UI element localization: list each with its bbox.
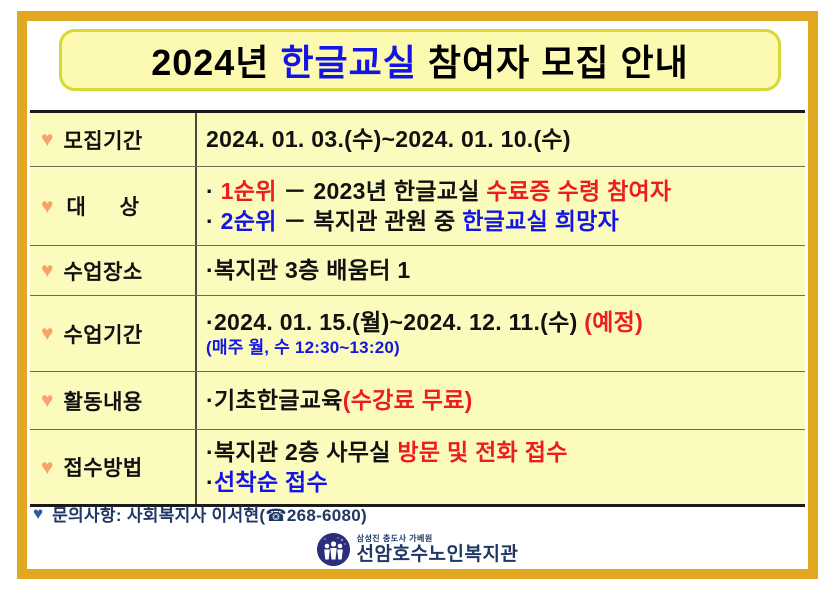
- title-banner: 2024년 한글교실 참여자 모집 안내: [59, 29, 781, 91]
- value-line: · 1순위 － 2023년 한글교실 수료증 수령 참여자: [206, 177, 805, 205]
- row-label: 수업장소: [63, 256, 142, 286]
- row-label: 접수방법: [63, 452, 142, 482]
- logo-wordmark: 삼성진 충도사 가베원 선암호수노인복지관: [357, 535, 519, 564]
- value-segment: 한글교실 희망자: [462, 208, 619, 234]
- logo-name: 선암호수노인복지관: [357, 545, 519, 564]
- row-label: 활동내용: [63, 386, 142, 416]
- table-row: ♥ 수업장소 ·복지관 3층 배움터 1: [30, 246, 805, 296]
- value-line: (매주 월, 수 12:30~13:20): [206, 338, 805, 359]
- title-part-1: 2024년: [151, 42, 280, 83]
- value-line: ·2024. 01. 15.(월)~2024. 12. 11.(수) (예정): [206, 308, 805, 336]
- value-line: ·복지관 3층 배움터 1: [206, 256, 805, 284]
- table-row: ♥ 수업기간 ·2024. 01. 15.(월)~2024. 12. 11.(수…: [30, 296, 805, 372]
- logo-subtext: 삼성진 충도사 가베원: [357, 535, 519, 543]
- value-segment: 방문 및 전화 접수: [397, 439, 567, 465]
- row-value-cell: ·복지관 2층 사무실 방문 및 전화 접수 ·선착순 접수: [197, 430, 805, 504]
- row-value-cell: · 1순위 － 2023년 한글교실 수료증 수령 참여자 · 2순위 － 복지…: [197, 167, 805, 245]
- heart-icon: ♥: [41, 260, 53, 281]
- people-circle-logo-icon: [317, 533, 350, 566]
- heart-icon: ♥: [41, 196, 53, 217]
- bullet-marker: ·: [206, 208, 214, 234]
- organization-logo: 삼성진 충도사 가베원 선암호수노인복지관: [0, 533, 835, 566]
- value-segment: [214, 208, 221, 234]
- bullet-marker: ·: [206, 309, 214, 335]
- row-label-cell: ♥ 대 상: [30, 167, 197, 245]
- row-label-cell: ♥ 접수방법: [30, 430, 197, 504]
- bullet-marker: ·: [206, 469, 214, 495]
- table-row: ♥ 활동내용 ·기초한글교육(수강료 무료): [30, 372, 805, 430]
- value-segment: 복지관 2층 사무실: [214, 439, 397, 465]
- row-label-cell: ♥ 활동내용: [30, 372, 197, 429]
- table-row: ♥ 접수방법 ·복지관 2층 사무실 방문 및 전화 접수 ·선착순 접수: [30, 430, 805, 504]
- value-segment: － 2023년 한글교실: [277, 178, 487, 204]
- value-segment: (수강료 무료): [343, 387, 473, 413]
- title-highlight: 한글교실: [280, 42, 416, 83]
- value-line: 2024. 01. 03.(수)~2024. 01. 10.(수): [206, 125, 805, 153]
- heart-icon: ♥: [41, 457, 53, 478]
- row-label: 수업기간: [63, 319, 142, 349]
- value-segment: 기초한글교육: [214, 387, 343, 413]
- title-part-2: 참여자 모집 안내: [417, 42, 689, 83]
- value-segment: 2순위: [221, 208, 277, 234]
- value-segment: 1순위: [221, 178, 277, 204]
- value-line: ·선착순 접수: [206, 468, 805, 496]
- value-segment: (예정): [584, 309, 643, 335]
- value-segment: 수료증 수령 참여자: [486, 178, 671, 204]
- value-segment: 2024. 01. 15.(월)~2024. 12. 11.(수): [214, 309, 584, 335]
- poster: 2024년 한글교실 참여자 모집 안내 ♥ 모집기간 2024. 01. 03…: [0, 0, 835, 590]
- value-line: ·기초한글교육(수강료 무료): [206, 386, 805, 414]
- bullet-marker: ·: [206, 178, 214, 204]
- row-label-cell: ♥ 모집기간: [30, 113, 197, 166]
- table-row: ♥ 모집기간 2024. 01. 03.(수)~2024. 01. 10.(수): [30, 113, 805, 167]
- heart-icon: ♥: [41, 390, 53, 411]
- bullet-marker: ·: [206, 439, 214, 465]
- row-label: 대 상: [63, 191, 152, 221]
- page-title: 2024년 한글교실 참여자 모집 안내: [151, 34, 689, 86]
- value-line: ·복지관 2층 사무실 방문 및 전화 접수: [206, 438, 805, 466]
- row-label-cell: ♥ 수업기간: [30, 296, 197, 371]
- value-segment: 복지관 3층 배움터 1: [214, 257, 410, 283]
- row-value-cell: 2024. 01. 03.(수)~2024. 01. 10.(수): [197, 113, 805, 166]
- row-value-cell: ·복지관 3층 배움터 1: [197, 246, 805, 295]
- bullet-marker: ·: [206, 387, 214, 413]
- bullet-marker: ·: [206, 257, 214, 283]
- heart-icon: ♥: [41, 323, 53, 344]
- row-label: 모집기간: [63, 125, 142, 155]
- value-line: · 2순위 － 복지관 관원 중 한글교실 희망자: [206, 207, 805, 235]
- row-value-cell: ·기초한글교육(수강료 무료): [197, 372, 805, 429]
- heart-icon: ♥: [41, 129, 53, 150]
- heart-icon: ♥: [33, 505, 43, 522]
- row-label-cell: ♥ 수업장소: [30, 246, 197, 295]
- info-table: ♥ 모집기간 2024. 01. 03.(수)~2024. 01. 10.(수)…: [30, 110, 805, 507]
- value-segment: (매주 월, 수 12:30~13:20): [206, 338, 400, 357]
- value-segment: － 복지관 관원 중: [277, 208, 463, 234]
- table-row: ♥ 대 상 · 1순위 － 2023년 한글교실 수료증 수령 참여자 · 2순…: [30, 167, 805, 246]
- contact-text: 문의사항: 사회복지사 이서현(☎268-6080): [52, 501, 367, 526]
- value-segment: 2024. 01. 03.(수)~2024. 01. 10.(수): [206, 126, 571, 152]
- footer-contact: ♥ 문의사항: 사회복지사 이서현(☎268-6080): [33, 501, 367, 526]
- row-value-cell: ·2024. 01. 15.(월)~2024. 12. 11.(수) (예정) …: [197, 296, 805, 371]
- value-segment: [214, 178, 221, 204]
- value-segment: 선착순 접수: [214, 469, 328, 495]
